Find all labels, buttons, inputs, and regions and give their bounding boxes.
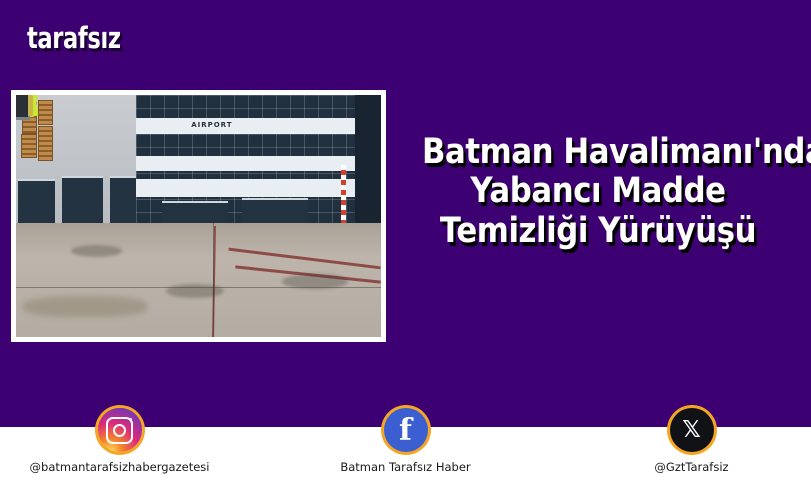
headline-line-2: Yabancı Madde (422, 175, 774, 208)
facade-band-1 (136, 118, 355, 134)
news-photo: AIRPORT (16, 95, 381, 337)
instagram-handle: @batmantarafsizhabergazetesi (30, 460, 210, 474)
facade-right-panel (355, 95, 381, 231)
tarmac-stain (23, 296, 147, 316)
x-twitter-glyph: 𝕏 (682, 419, 701, 442)
wood-slat-panel (38, 126, 53, 161)
person-shadow (282, 274, 348, 289)
terminal-building: AIRPORT (16, 95, 381, 231)
wood-slat-panel (38, 100, 53, 125)
facebook-icon[interactable]: f (384, 408, 428, 452)
pavement-seam (213, 223, 214, 337)
x-twitter-handle: @GztTarafsiz (654, 460, 728, 474)
headline: Batman Havalimanı'nda Yabancı Madde Temi… (398, 136, 798, 254)
news-card: tarafsız AIRPORT (0, 0, 811, 495)
headline-line-1: Batman Havalimanı'nda (422, 136, 774, 169)
social-row: @batmantarafsizhabergazetesi f Batman Ta… (0, 408, 811, 495)
x-twitter-icon[interactable]: 𝕏 (670, 408, 714, 452)
wood-slat-panel (21, 134, 37, 158)
brand-logo: tarafsız (27, 24, 121, 53)
photo-frame: AIRPORT (11, 90, 386, 342)
facade-band-3 (136, 179, 355, 197)
person-shadow (71, 245, 122, 257)
headline-line-3: Temizliği Yürüyüşü (422, 215, 774, 248)
social-item-instagram[interactable]: @batmantarafsizhabergazetesi (25, 408, 215, 474)
instagram-icon[interactable] (98, 408, 142, 452)
social-item-facebook[interactable]: f Batman Tarafsız Haber (311, 408, 501, 474)
instagram-lens-dot (129, 418, 132, 421)
facebook-handle: Batman Tarafsız Haber (340, 460, 470, 474)
facade-band-2 (136, 156, 355, 171)
facebook-glyph: f (399, 416, 412, 446)
social-item-x-twitter[interactable]: 𝕏 @GztTarafsiz (597, 408, 787, 474)
marker-pole (341, 165, 346, 230)
airport-sign: AIRPORT (191, 121, 232, 129)
